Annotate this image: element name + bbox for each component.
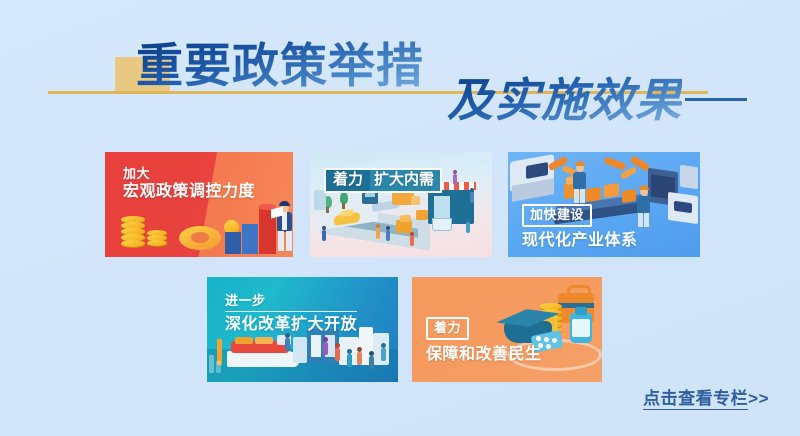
card-text-block: 着力 保障和改善民生 [426, 317, 542, 365]
view-column-link-arrows: >> [748, 389, 769, 408]
card-eyebrow: 着力 [426, 317, 469, 340]
card-headline: 宏观政策调控力度 [123, 182, 255, 202]
banner-stage: 重要政策举措 及实施效果 [0, 0, 800, 436]
card-headline: 深化改革扩大开放 [225, 315, 357, 335]
policy-card-peoples-livelihood[interactable]: 着力 保障和改善民生 [412, 277, 602, 382]
page-title-line-1: 重要政策举措 [136, 41, 424, 93]
policy-card-modern-industry[interactable]: 加快建设 现代化产业体系 [508, 152, 700, 257]
policy-card-domestic-demand[interactable]: 着力扩大内需 [310, 152, 492, 257]
policy-card-reform-opening[interactable]: 进一步 深化改革扩大开放 [207, 277, 398, 382]
banner-header: 重要政策举措 及实施效果 [0, 0, 800, 140]
view-column-link[interactable]: 点击查看专栏>> [643, 384, 769, 409]
card-text-divider [225, 311, 357, 312]
card-headline: 现代化产业体系 [522, 231, 638, 251]
view-column-link-label: 点击查看专栏 [643, 389, 748, 410]
card-headline: 扩大内需 [370, 168, 442, 193]
card-text-block: 加快建设 现代化产业体系 [522, 204, 638, 251]
card-text-block: 加大 宏观政策调控力度 [123, 166, 255, 202]
card-eyebrow: 加大 [123, 166, 255, 182]
card-eyebrow: 加快建设 [522, 204, 592, 227]
card-text-block: 着力扩大内需 [324, 168, 442, 193]
page-title-line-2: 及实施效果 [447, 74, 682, 126]
blue-accent-rule [685, 98, 747, 101]
policy-card-macro-policy[interactable]: 加大 宏观政策调控力度 [105, 152, 293, 257]
card-headline: 保障和改善民生 [426, 345, 542, 365]
card-eyebrow: 着力 [324, 168, 372, 193]
card-eyebrow: 进一步 [225, 293, 357, 309]
card-text-block: 进一步 深化改革扩大开放 [225, 293, 357, 335]
